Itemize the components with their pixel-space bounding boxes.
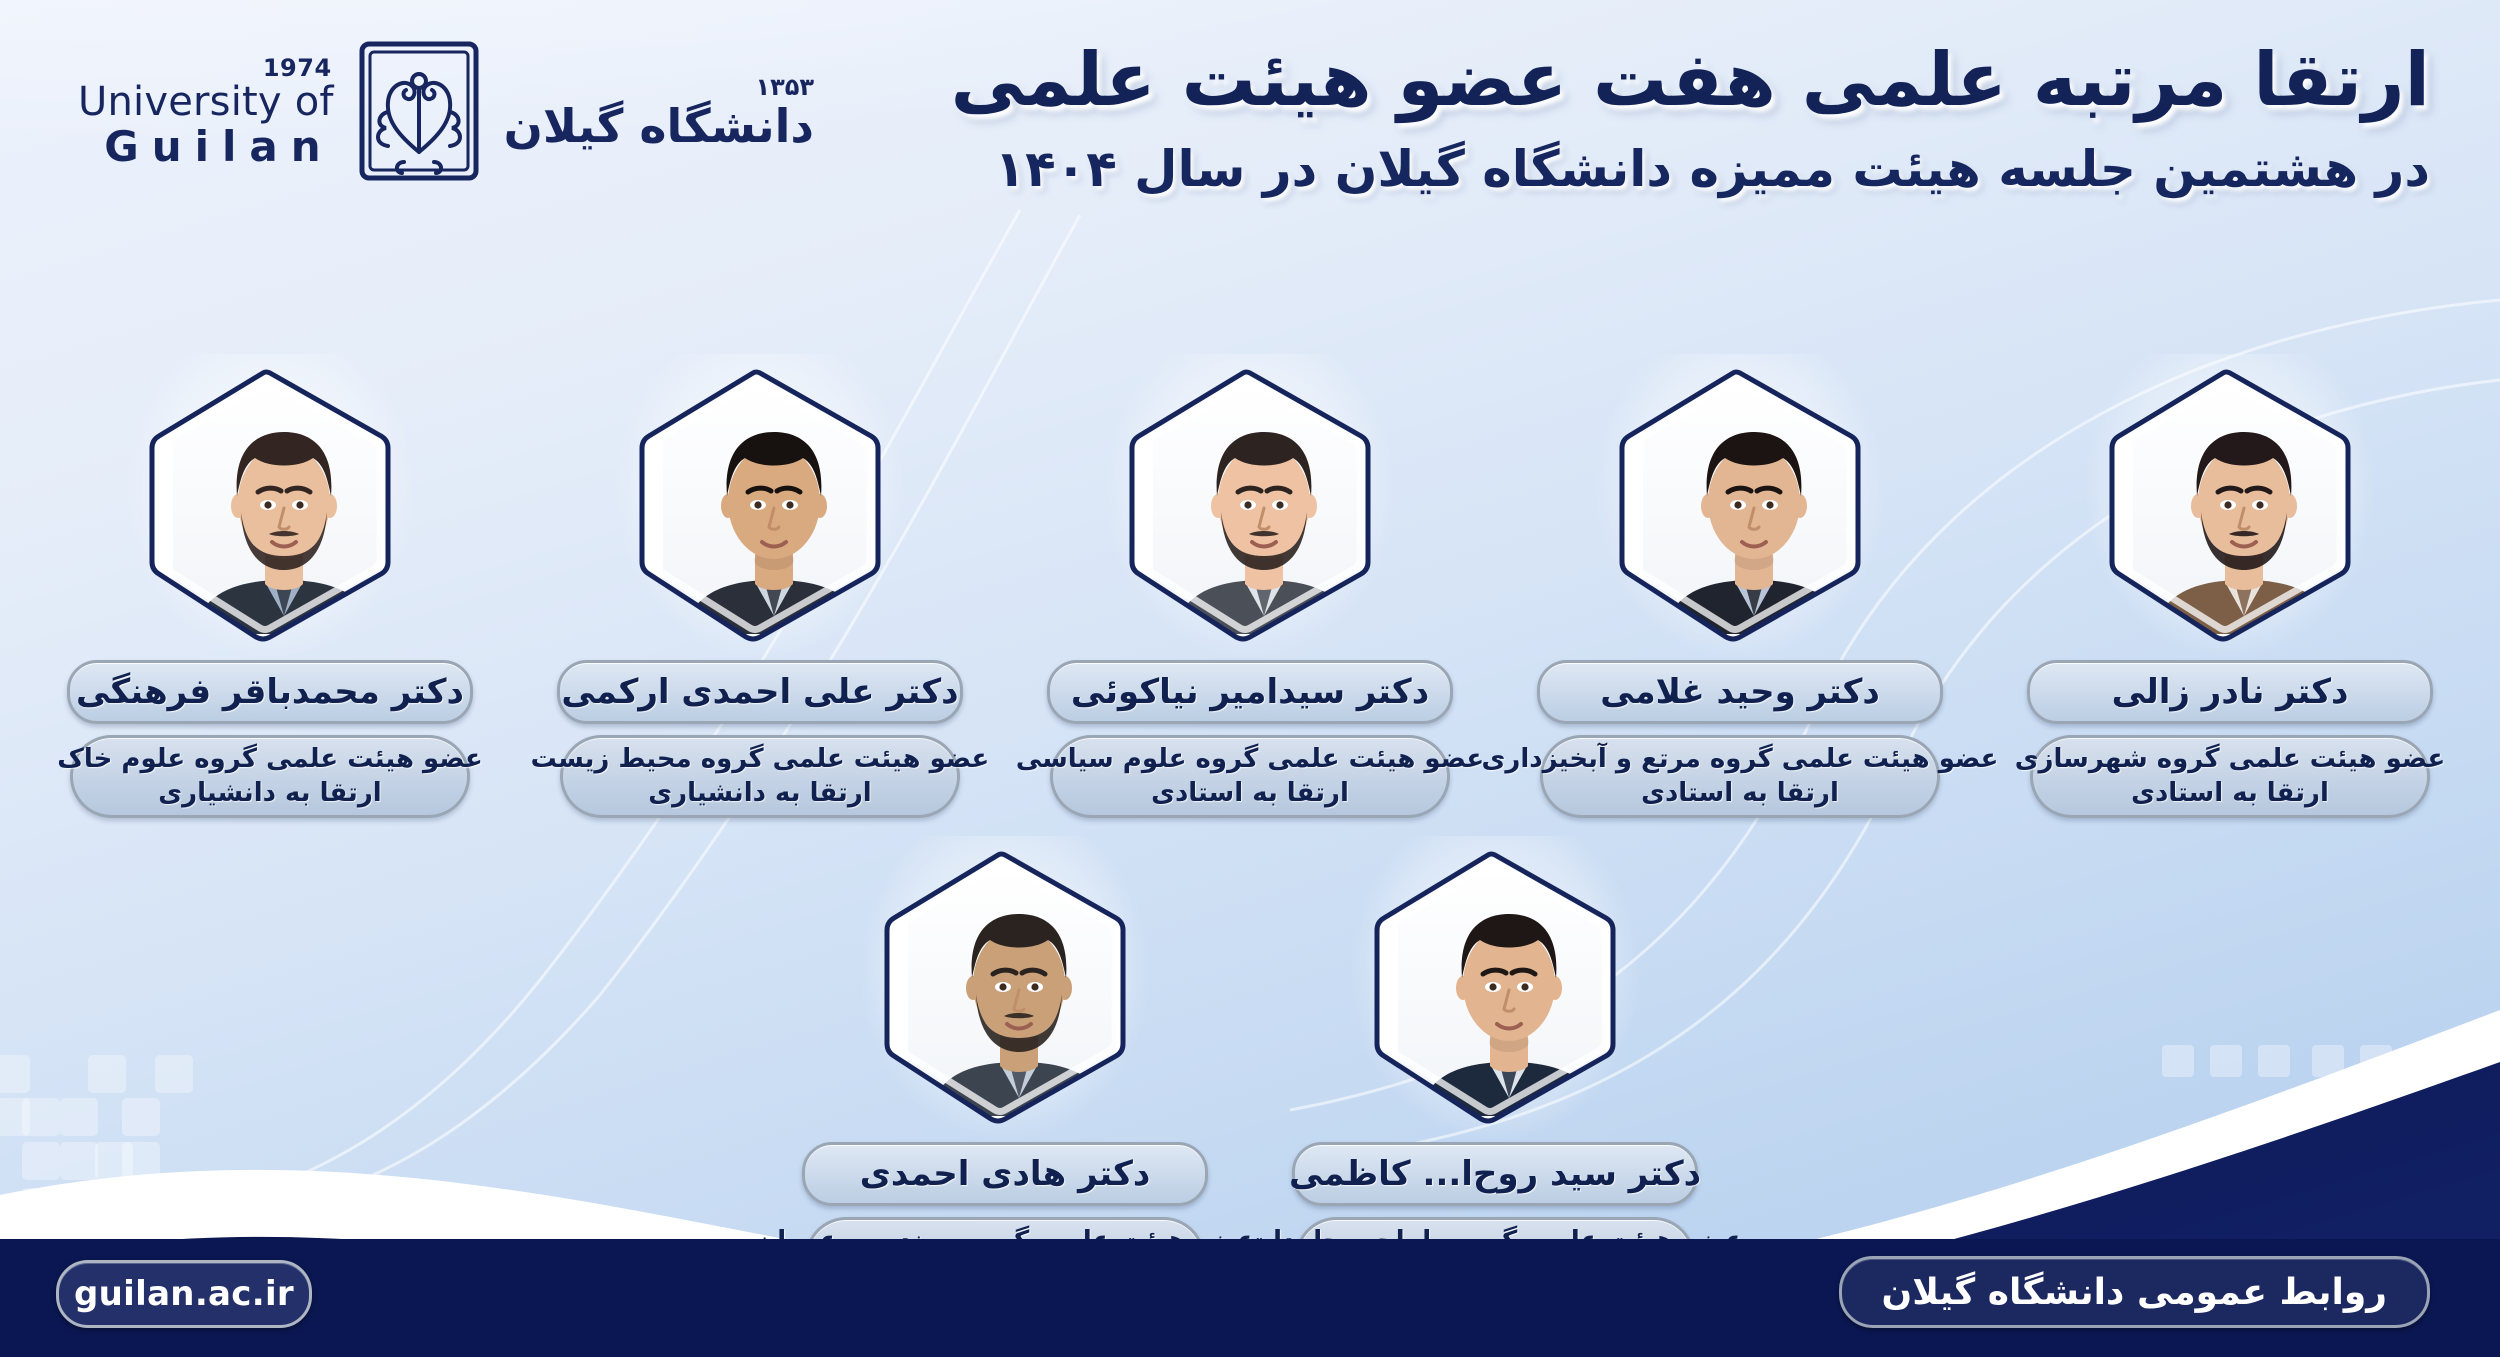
person-affiliation: عضو هیئت علمی گروه علوم سیاسی	[1016, 742, 1484, 776]
person-affiliation: عضو هیئت علمی گروه شهرسازی	[2015, 742, 2446, 776]
person-card: دکتر محمدباقر فرهنگی عضو هیئت علمی گروه …	[50, 368, 490, 818]
website-url-pill[interactable]: guilan.ac.ir	[56, 1260, 312, 1328]
person-affiliation: عضو هیئت علمی گروه مرتع و آبخیزداری	[1482, 742, 1999, 776]
person-role-pill: عضو هیئت علمی گروه محیط زیست ارتقا به دا…	[560, 735, 960, 818]
person-promotion: ارتقا به دانشیاری	[158, 776, 381, 810]
person-role-pill: عضو هیئت علمی گروه علوم خاک ارتقا به دان…	[70, 735, 470, 818]
portrait-hexagon-frame	[1370, 850, 1620, 1124]
person-name: دکتر سیدامیر نیاکوئی	[1071, 672, 1429, 712]
poster-header: 1974 University of Guilan ۱۳۵۳ دانشگاه گ…	[0, 0, 2500, 230]
portrait-hexagon-frame	[145, 368, 395, 642]
person-affiliation: عضو هیئت علمی گروه محیط زیست	[531, 742, 990, 776]
hexagon-outline-icon	[1615, 368, 1865, 642]
portrait-hexagon-frame	[635, 368, 885, 642]
portrait-hexagon-frame	[1125, 368, 1375, 642]
person-promotion: ارتقا به استادی	[1151, 776, 1349, 810]
public-relations-pill: روابط عمومی دانشگاه گیلان	[1839, 1256, 2430, 1328]
person-name: دکتر وحید غلامی	[1600, 672, 1880, 712]
person-name-pill: دکتر سیدامیر نیاکوئی	[1047, 660, 1453, 724]
person-promotion: ارتقا به استادی	[1641, 776, 1839, 810]
person-card: دکتر علی احمدی ارکمی عضو هیئت علمی گروه …	[540, 368, 980, 818]
person-name-pill: دکتر علی احمدی ارکمی	[557, 660, 963, 724]
portrait-hexagon-frame	[2105, 368, 2355, 642]
person-promotion: ارتقا به استادی	[2131, 776, 2329, 810]
hexagon-outline-icon	[2105, 368, 2355, 642]
person-card: دکتر سیدامیر نیاکوئی عضو هیئت علمی گروه …	[1030, 368, 1470, 818]
public-relations-label: روابط عمومی دانشگاه گیلان	[1882, 1272, 2387, 1313]
hexagon-outline-icon	[880, 850, 1130, 1124]
person-name: دکتر هادی احمدی	[860, 1154, 1151, 1194]
hexagon-outline-icon	[635, 368, 885, 642]
person-name-pill: دکتر وحید غلامی	[1537, 660, 1943, 724]
hexagon-outline-icon	[145, 368, 395, 642]
person-card: دکتر سید روح‌ا... کاظمی عضو هیئت علمی گر…	[1275, 850, 1715, 1300]
person-role-pill: عضو هیئت علمی گروه علوم سیاسی ارتقا به ا…	[1050, 735, 1450, 818]
person-promotion: ارتقا به دانشیاری	[648, 776, 871, 810]
person-name: دکتر محمدباقر فرهنگی	[76, 672, 464, 712]
hexagon-outline-icon	[1370, 850, 1620, 1124]
page-subtitle: در هشتمین جلسه هیئت ممیزه دانشگاه گیلان …	[0, 137, 2430, 202]
portrait-hexagon-frame	[880, 850, 1130, 1124]
page-title: ارتقا مرتبه علمی هفت عضو هیئت علمی	[0, 34, 2430, 127]
poster-canvas: 1974 University of Guilan ۱۳۵۳ دانشگاه گ…	[0, 0, 2500, 1357]
person-name-pill: دکتر نادر زالی	[2027, 660, 2433, 724]
person-name-pill: دکتر هادی احمدی	[802, 1142, 1208, 1206]
hexagon-outline-icon	[1125, 368, 1375, 642]
people-row-bottom: دکتر سید روح‌ا... کاظمی عضو هیئت علمی گر…	[0, 850, 2500, 1300]
person-name: دکتر علی احمدی ارکمی	[561, 672, 958, 712]
person-name-pill: دکتر محمدباقر فرهنگی	[67, 660, 473, 724]
person-affiliation: عضو هیئت علمی گروه علوم خاک	[57, 742, 482, 776]
people-row-top: دکتر نادر زالی عضو هیئت علمی گروه شهرساز…	[0, 368, 2500, 818]
person-card: دکتر نادر زالی عضو هیئت علمی گروه شهرساز…	[2010, 368, 2450, 818]
header-titles: ارتقا مرتبه علمی هفت عضو هیئت علمی در هش…	[0, 34, 2430, 202]
person-role-pill: عضو هیئت علمی گروه مرتع و آبخیزداری ارتق…	[1540, 735, 1940, 818]
person-card: دکتر وحید غلامی عضو هیئت علمی گروه مرتع …	[1520, 368, 1960, 818]
website-url-label: guilan.ac.ir	[74, 1274, 294, 1314]
person-card: دکتر هادی احمدی عضو هیئت علمی گروه مهندس…	[785, 850, 1225, 1300]
person-name-pill: دکتر سید روح‌ا... کاظمی	[1292, 1142, 1698, 1206]
portrait-hexagon-frame	[1615, 368, 1865, 642]
person-name: دکتر سید روح‌ا... کاظمی	[1289, 1154, 1701, 1194]
person-name: دکتر نادر زالی	[2112, 672, 2349, 712]
person-role-pill: عضو هیئت علمی گروه شهرسازی ارتقا به استا…	[2030, 735, 2430, 818]
